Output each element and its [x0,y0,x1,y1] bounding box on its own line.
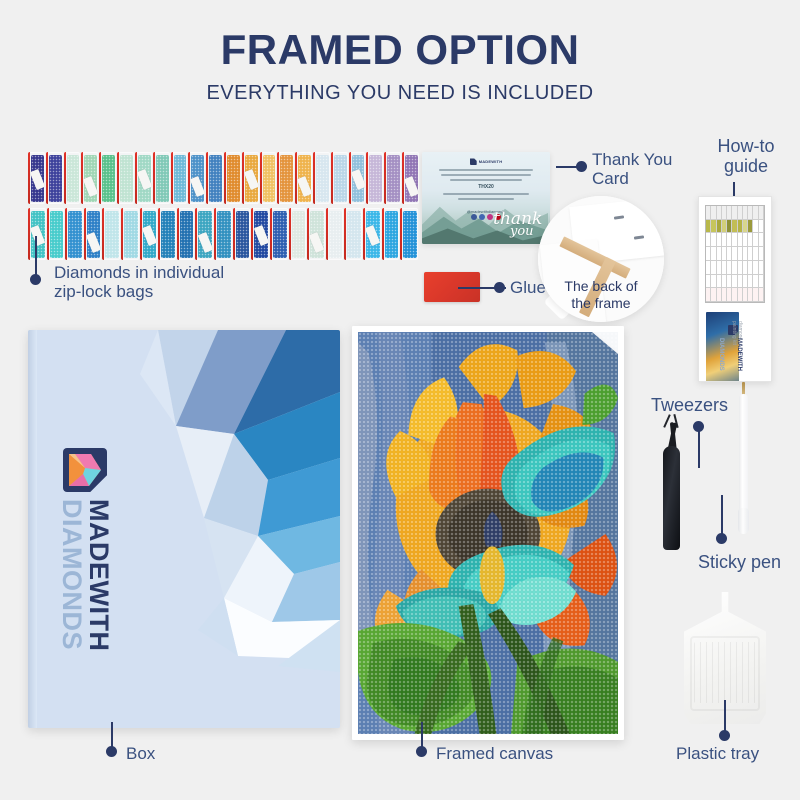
zip-lock-bag [400,208,418,260]
sunflower-butterfly-art [358,332,618,734]
callout-label-canvas: Framed canvas [436,744,553,763]
diamond-beads [292,211,306,258]
diamond-logo-icon [63,448,107,492]
diamond-beads [385,211,399,258]
zip-lock-bag [81,152,98,204]
zip-lock-bag [177,208,195,260]
diamond-beads [124,211,138,258]
zip-lock-bag [84,208,102,260]
diamond-beads [102,155,115,202]
callout-line-tray [724,700,726,734]
chart-cell [759,261,764,275]
diamond-beads [273,211,287,258]
chart-cell [759,220,764,234]
diamond-beads [387,155,400,202]
zip-lock-bag [206,152,223,204]
chart-cell [759,233,764,247]
zip-lock-bag [344,208,362,260]
diamond-beads [217,211,231,258]
diamond-beads [180,211,194,258]
zip-lock-bag [46,152,63,204]
box-brand-line2: DIAMONDS [57,499,87,650]
callout-line-stickypen [721,495,723,537]
callout-dot-stickypen [716,533,727,544]
diamond-beads [403,211,417,258]
page-title: FRAMED OPTION [0,26,800,74]
zip-lock-bag [135,152,152,204]
diamond-beads [280,155,293,202]
callout-dot-canvas [416,746,427,757]
diamond-beads [67,155,80,202]
tweezers-body [663,446,680,550]
diamond-beads [161,211,175,258]
zip-lock-bag [158,208,176,260]
gem-facets [69,454,101,486]
diamond-beads [316,155,329,202]
diamond-beads [347,211,361,258]
diamond-beads [120,155,133,202]
thank-you-card: MADEWITH THX20 @madewithdiamonds thank y… [422,152,550,244]
diamond-beads [50,211,64,258]
messenger-icon [479,214,485,220]
diamond-beads [174,155,187,202]
zip-lock-bag [224,152,241,204]
zip-lock-bag [277,152,294,204]
zip-lock-bag [326,208,344,260]
callout-label-tray: Plastic tray [676,744,759,763]
callout-line-thankyou [556,166,578,168]
zip-lock-bag [99,152,116,204]
zip-lock-bag [251,208,269,260]
chart-cell [759,206,764,220]
diamond-beads [263,155,276,202]
card-promo-code: THX20 [437,184,534,190]
zip-lock-bag [307,208,325,260]
zip-lock-bag [188,152,205,204]
card-body-text: THX20 [437,169,534,203]
zip-lock-bag [313,152,330,204]
callout-label-howto: How-to guide [700,136,792,176]
page-subtitle: EVERYTHING YOU NEED IS INCLUDED [0,82,800,105]
pen-shaft [739,394,748,526]
card-brand-text: MADEWITH [479,159,503,164]
callout-dot-tweezers [693,421,704,432]
diamond-beads [209,155,222,202]
zip-lock-bag [260,152,277,204]
diamond-beads [329,211,343,258]
diamond-bags-row-2 [28,208,398,260]
product-box: MADEWITH DIAMONDS [28,330,340,728]
callout-dot-box [106,746,117,757]
pen-grip [738,508,749,534]
callout-label-box: Box [126,744,155,763]
diamond-beads [105,211,119,258]
zip-lock-bag [242,152,259,204]
zip-lock-bag [171,152,188,204]
chart-cell [759,288,764,302]
zip-lock-bag [382,208,400,260]
bubble-caption: The back of the frame [538,278,664,312]
zip-lock-bag [28,152,45,204]
box-brand-lockup: MADEWITH DIAMONDS [58,448,112,651]
zip-lock-bag [363,208,381,260]
zip-lock-bag [331,152,348,204]
zip-lock-bag [384,152,401,204]
zip-lock-bag [402,152,419,204]
zip-lock-bag [366,152,383,204]
guide-brand-line2: DIAMONDS [718,338,724,371]
color-symbol-chart [705,205,765,303]
box-brand-line1: MADEWITH [84,499,114,651]
chart-cell [759,275,764,289]
zip-lock-bag [295,152,312,204]
zip-lock-bag [195,208,213,260]
callout-label-tweezers: Tweezers [651,395,728,415]
diamond-beads [334,155,347,202]
diamond-beads [49,155,62,202]
diamond-beads [156,155,169,202]
zip-lock-bag [65,208,83,260]
diamond-bags-row-1 [28,152,398,204]
zip-lock-bag [140,208,158,260]
zip-lock-bag [349,152,366,204]
zip-lock-bag [289,208,307,260]
infographic-canvas: FRAMED OPTION EVERYTHING YOU NEED IS INC… [0,0,800,800]
zip-lock-bag [214,208,232,260]
framed-canvas [352,326,624,740]
how-to-guide-sheet: MADEWITH DIAMONDS diamond painting kit [698,196,772,382]
callout-label-thankyou: Thank You Card [592,150,672,188]
diamond-beads [236,211,250,258]
zip-lock-bag [47,208,65,260]
callout-line-diamonds [35,236,37,276]
zip-lock-bag [233,208,251,260]
tray-grooves [694,642,756,703]
diamond-beads [227,155,240,202]
callout-dot-tray [719,730,730,741]
zip-lock-bag [117,152,134,204]
callout-line-tweezers [698,428,700,468]
card-logo: MADEWITH [422,158,550,165]
sticky-pen-tool [739,382,751,542]
guide-fine-print: diamond painting kit [731,321,743,349]
callout-dot-glue [494,282,505,293]
callout-dot-thankyou [576,161,587,172]
zip-lock-bag [270,208,288,260]
zip-lock-bag [153,152,170,204]
diamond-beads [68,211,82,258]
diamond-beads [369,155,382,202]
diamond-logo-icon [470,158,477,165]
zip-lock-bag [64,152,81,204]
callout-label-stickypen: Sticky pen [698,552,781,572]
zip-lock-bag [121,208,139,260]
chart-cell [759,247,764,261]
facebook-icon [471,214,477,220]
card-thank-you-script: thank you [493,213,542,238]
zip-lock-bag [102,208,120,260]
tweezers-tool [663,422,683,552]
callout-label-diamonds: Diamonds in individual zip-lock bags [54,263,224,301]
canvas-artwork [358,332,618,734]
